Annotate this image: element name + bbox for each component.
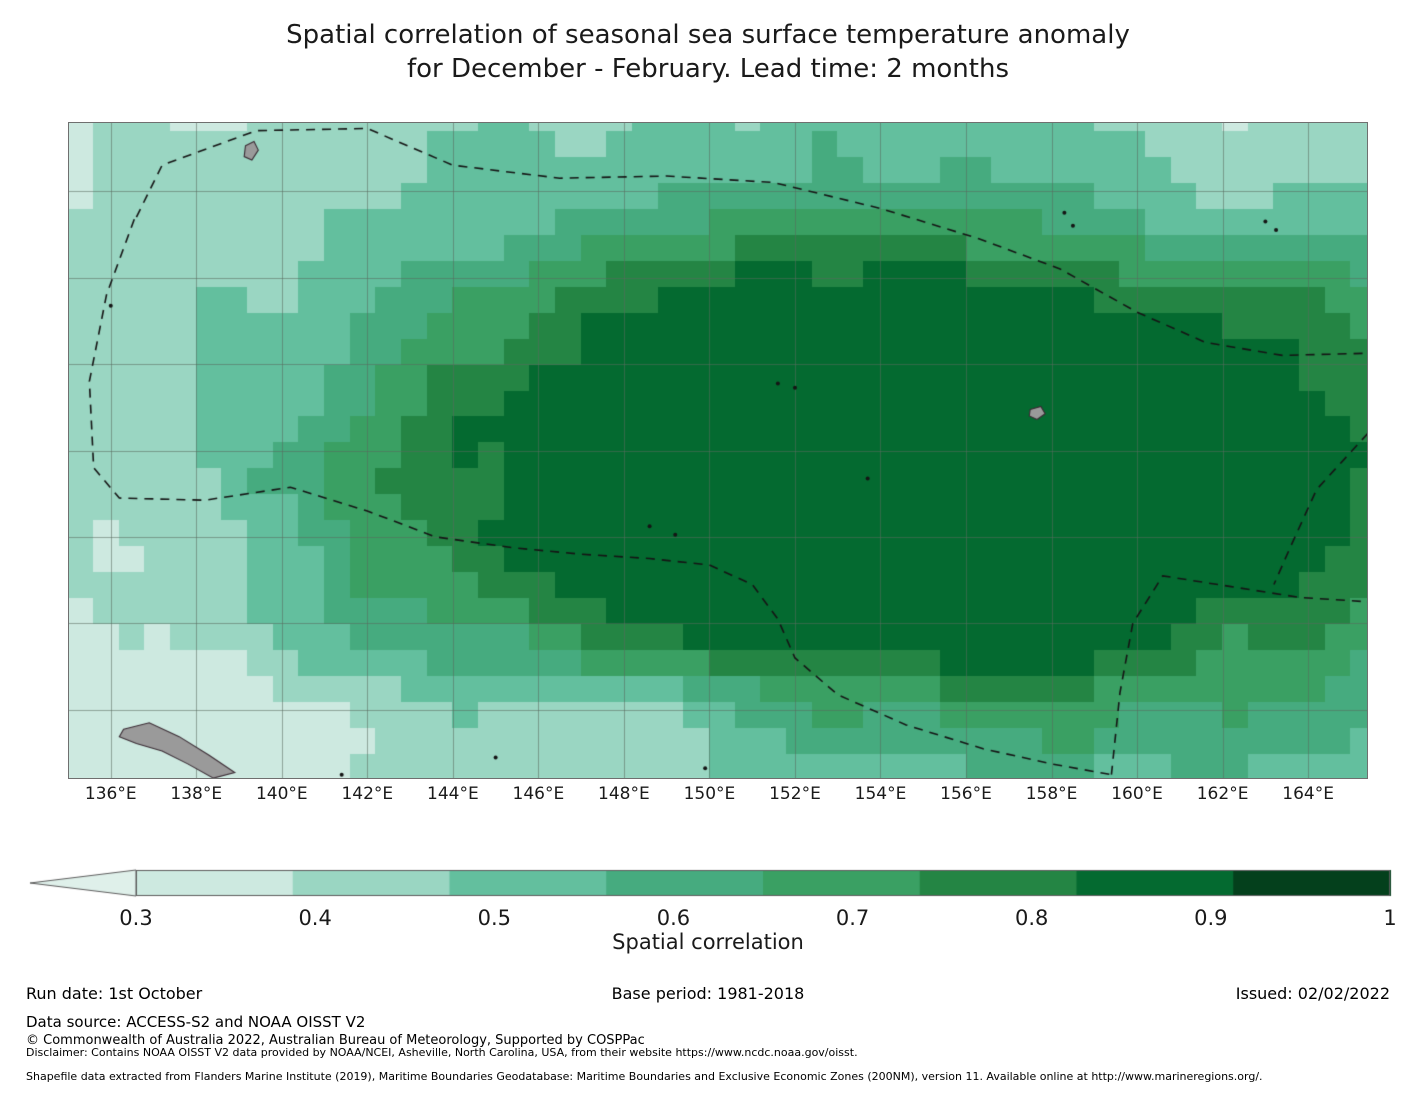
x-tick-11: 158°E bbox=[1026, 784, 1078, 804]
colorbar-canvas bbox=[24, 866, 1392, 906]
colorbar-tick-6: 0.9 bbox=[1194, 906, 1227, 930]
x-tick-12: 160°E bbox=[1111, 784, 1163, 804]
colorbar-tick-4: 0.7 bbox=[836, 906, 869, 930]
disclaimer-text: Disclaimer: Contains NOAA OISST V2 data … bbox=[26, 1046, 858, 1059]
title-line-1: Spatial correlation of seasonal sea surf… bbox=[0, 18, 1416, 52]
x-tick-2: 140°E bbox=[256, 784, 308, 804]
colorbar-tick-7: 1 bbox=[1383, 906, 1396, 930]
map-plot-area bbox=[68, 122, 1368, 779]
data-source-text: Data source: ACCESS-S2 and NOAA OISST V2 bbox=[26, 1013, 365, 1031]
base-period-text: Base period: 1981-2018 bbox=[0, 984, 1416, 1003]
issued-date-text: Issued: 02/02/2022 bbox=[1236, 984, 1390, 1003]
x-tick-6: 148°E bbox=[598, 784, 650, 804]
colorbar-tick-1: 0.4 bbox=[298, 906, 331, 930]
x-tick-9: 154°E bbox=[855, 784, 907, 804]
x-tick-4: 144°E bbox=[427, 784, 479, 804]
x-tick-1: 138°E bbox=[170, 784, 222, 804]
colorbar-label: Spatial correlation bbox=[0, 930, 1416, 954]
x-tick-3: 142°E bbox=[341, 784, 393, 804]
x-tick-5: 146°E bbox=[513, 784, 565, 804]
metadata-row: Run date: 1st October Base period: 1981-… bbox=[0, 984, 1416, 1006]
title-line-2: for December - February. Lead time: 2 mo… bbox=[0, 52, 1416, 86]
colorbar-tick-0: 0.3 bbox=[119, 906, 152, 930]
x-tick-0: 136°E bbox=[85, 784, 137, 804]
colorbar-tick-2: 0.5 bbox=[478, 906, 511, 930]
x-tick-7: 150°E bbox=[684, 784, 736, 804]
colorbar-tick-5: 0.8 bbox=[1015, 906, 1048, 930]
x-tick-14: 164°E bbox=[1282, 784, 1334, 804]
colorbar-tick-3: 0.6 bbox=[657, 906, 690, 930]
x-tick-8: 152°E bbox=[769, 784, 821, 804]
shapefile-attribution-text: Shapefile data extracted from Flanders M… bbox=[26, 1070, 1263, 1083]
x-tick-13: 162°E bbox=[1197, 784, 1249, 804]
chart-title: Spatial correlation of seasonal sea surf… bbox=[0, 18, 1416, 86]
colorbar bbox=[24, 866, 1392, 906]
correlation-heatmap-canvas bbox=[68, 122, 1368, 779]
x-tick-10: 156°E bbox=[940, 784, 992, 804]
